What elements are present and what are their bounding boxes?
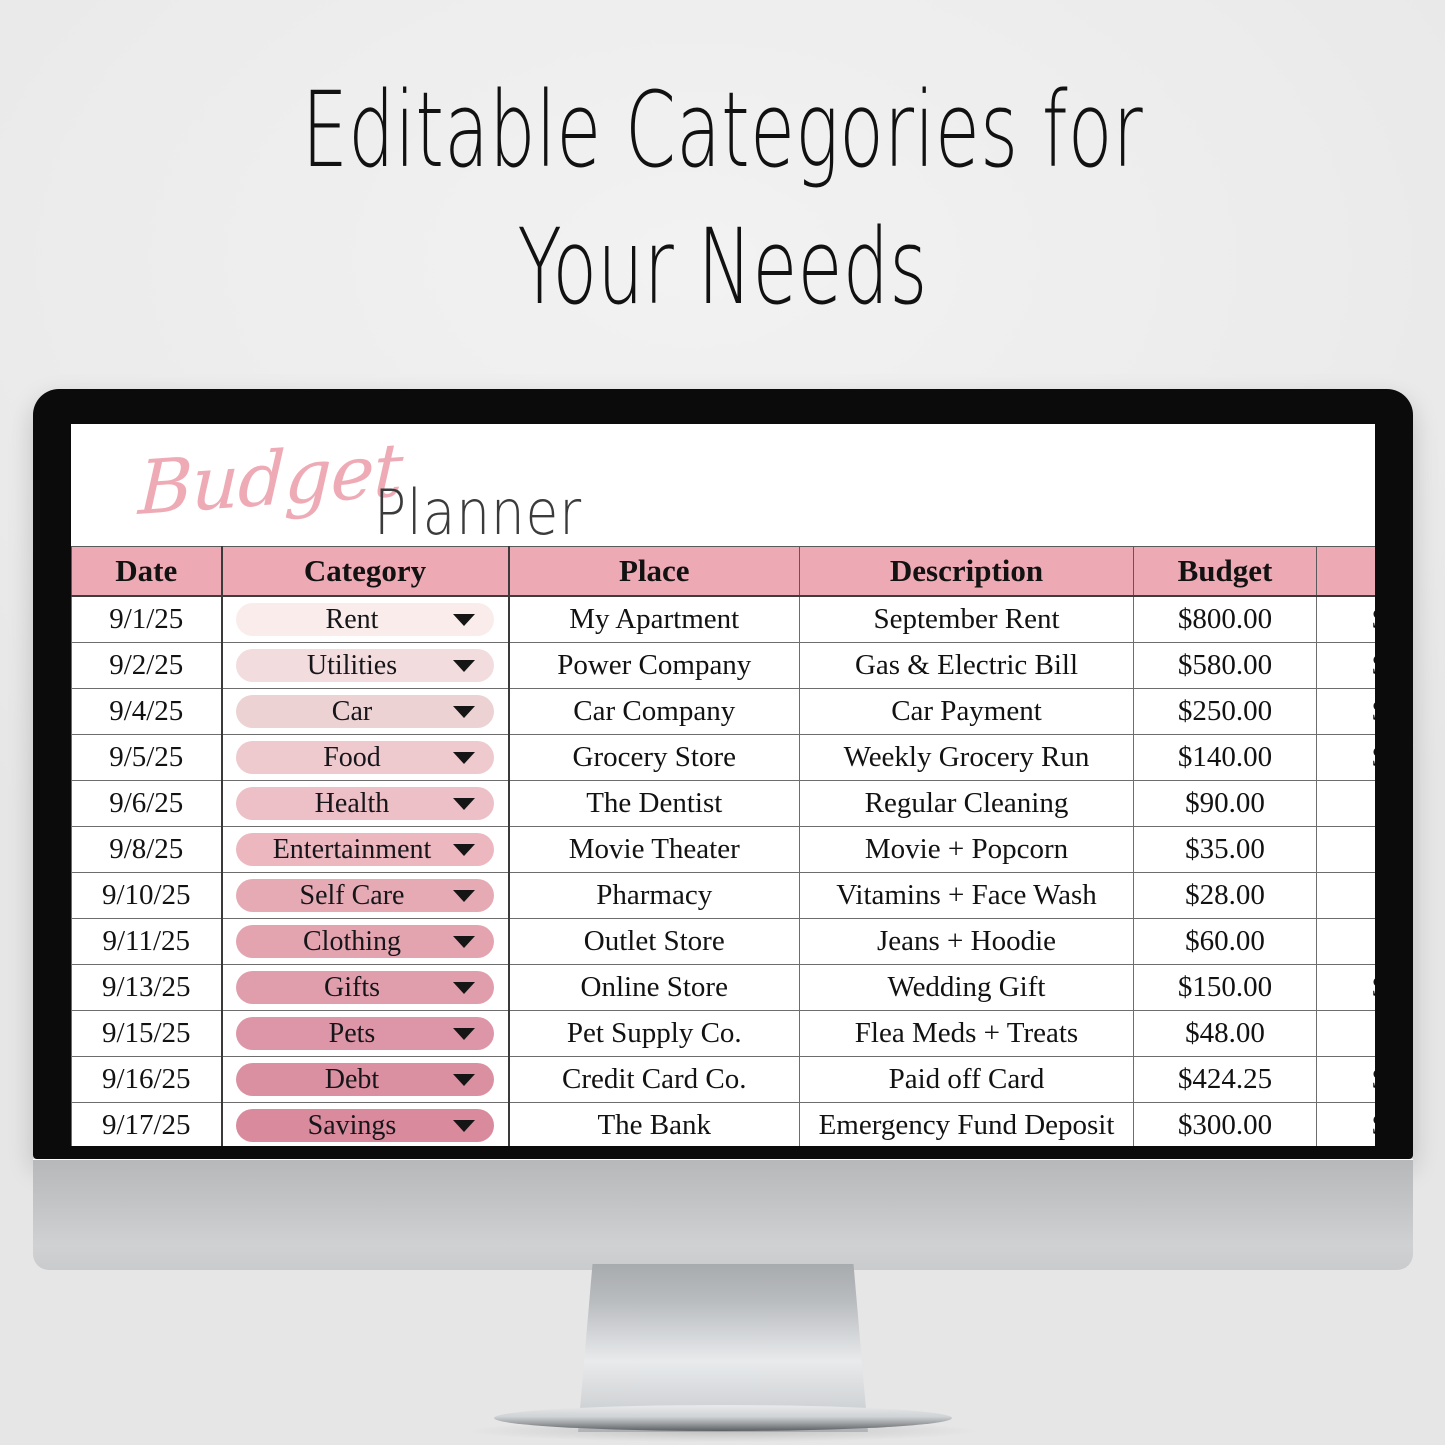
cell-date[interactable]: 9/2/25 xyxy=(72,643,222,689)
chevron-down-icon[interactable] xyxy=(453,1120,475,1132)
cell-date[interactable]: 9/17/25 xyxy=(72,1103,222,1147)
category-dropdown[interactable]: Food xyxy=(236,741,494,774)
cell-spent[interactable]: $8 xyxy=(1317,596,1376,643)
table-header-row: Date Category Place Description Budget S xyxy=(72,547,1376,597)
cell-place[interactable]: Pharmacy xyxy=(509,873,800,919)
table-row: 9/4/25CarCar CompanyCar Payment$250.00$2 xyxy=(72,689,1376,735)
cell-place[interactable]: Power Company xyxy=(509,643,800,689)
cell-category[interactable]: Gifts xyxy=(222,965,509,1011)
category-dropdown[interactable]: Health xyxy=(236,787,494,820)
chevron-down-icon[interactable] xyxy=(453,844,475,856)
table-row: 9/17/25SavingsThe BankEmergency Fund Dep… xyxy=(72,1103,1376,1147)
cell-place[interactable]: Car Company xyxy=(509,689,800,735)
table-row: 9/8/25EntertainmentMovie TheaterMovie + … xyxy=(72,827,1376,873)
cell-description[interactable]: Gas & Electric Bill xyxy=(800,643,1134,689)
column-header-category[interactable]: Category xyxy=(222,547,509,597)
cell-spent[interactable]: $ xyxy=(1317,919,1376,965)
cell-place[interactable]: The Dentist xyxy=(509,781,800,827)
chevron-down-icon[interactable] xyxy=(453,798,475,810)
cell-spent[interactable]: $ xyxy=(1317,827,1376,873)
category-dropdown[interactable]: Pets xyxy=(236,1017,494,1050)
table-row: 9/2/25UtilitiesPower CompanyGas & Electr… xyxy=(72,643,1376,689)
category-dropdown[interactable]: Entertainment xyxy=(236,833,494,866)
cell-date[interactable]: 9/6/25 xyxy=(72,781,222,827)
column-header-spent[interactable]: S xyxy=(1317,547,1376,597)
cell-spent[interactable]: $5 xyxy=(1317,643,1376,689)
cell-budget[interactable]: $28.00 xyxy=(1134,873,1317,919)
category-dropdown[interactable]: Utilities xyxy=(236,649,494,682)
cell-description[interactable]: Movie + Popcorn xyxy=(800,827,1134,873)
column-header-place[interactable]: Place xyxy=(509,547,800,597)
chevron-down-icon[interactable] xyxy=(453,1028,475,1040)
category-label: Car xyxy=(332,695,398,728)
cell-place[interactable]: The Bank xyxy=(509,1103,800,1147)
category-label: Gifts xyxy=(324,971,406,1004)
cell-spent[interactable]: $1 xyxy=(1317,735,1376,781)
cell-description[interactable]: Paid off Card xyxy=(800,1057,1134,1103)
chevron-down-icon[interactable] xyxy=(453,706,475,718)
logo-script-word: Budget xyxy=(137,427,404,532)
cell-category[interactable]: Utilities xyxy=(222,643,509,689)
category-dropdown[interactable]: Clothing xyxy=(236,925,494,958)
table-row: 9/15/25PetsPet Supply Co.Flea Meds + Tre… xyxy=(72,1011,1376,1057)
cell-description[interactable]: Car Payment xyxy=(800,689,1134,735)
cell-spent[interactable]: $4 xyxy=(1317,1057,1376,1103)
cell-date[interactable]: 9/8/25 xyxy=(72,827,222,873)
cell-budget[interactable]: $90.00 xyxy=(1134,781,1317,827)
cell-description[interactable]: Vitamins + Face Wash xyxy=(800,873,1134,919)
monitor-device: Budget Planner Date Category Place Descr… xyxy=(33,389,1413,1159)
cell-budget[interactable]: $35.00 xyxy=(1134,827,1317,873)
cell-spent[interactable]: $ xyxy=(1317,781,1376,827)
table-row: 9/5/25FoodGrocery StoreWeekly Grocery Ru… xyxy=(72,735,1376,781)
cell-category[interactable]: Food xyxy=(222,735,509,781)
cell-category[interactable]: Self Care xyxy=(222,873,509,919)
cell-description[interactable]: Regular Cleaning xyxy=(800,781,1134,827)
chevron-down-icon[interactable] xyxy=(453,982,475,994)
category-label: Rent xyxy=(326,603,405,636)
cell-description[interactable]: Emergency Fund Deposit xyxy=(800,1103,1134,1147)
column-header-date[interactable]: Date xyxy=(72,547,222,597)
cell-description[interactable]: Flea Meds + Treats xyxy=(800,1011,1134,1057)
product-mockup-scene: Editable Categories for Your Needs Budge… xyxy=(0,0,1445,1445)
category-dropdown[interactable]: Gifts xyxy=(236,971,494,1004)
cell-budget[interactable]: $250.00 xyxy=(1134,689,1317,735)
cell-description[interactable]: Weekly Grocery Run xyxy=(800,735,1134,781)
headline-text: Editable Categories for Your Needs xyxy=(217,62,1229,337)
chevron-down-icon[interactable] xyxy=(453,614,475,626)
category-label: Food xyxy=(323,741,407,774)
cell-category[interactable]: Rent xyxy=(222,596,509,643)
cell-category[interactable]: Pets xyxy=(222,1011,509,1057)
cell-spent[interactable]: $ xyxy=(1317,1011,1376,1057)
cell-budget[interactable]: $60.00 xyxy=(1134,919,1317,965)
cell-date[interactable]: 9/13/25 xyxy=(72,965,222,1011)
cell-spent[interactable]: $3 xyxy=(1317,1103,1376,1147)
category-label: Health xyxy=(315,787,416,820)
cell-budget[interactable]: $424.25 xyxy=(1134,1057,1317,1103)
cell-category[interactable]: Savings xyxy=(222,1103,509,1147)
cell-budget[interactable]: $140.00 xyxy=(1134,735,1317,781)
table-row: 9/10/25Self CarePharmacyVitamins + Face … xyxy=(72,873,1376,919)
cell-date[interactable]: 9/16/25 xyxy=(72,1057,222,1103)
category-dropdown[interactable]: Savings xyxy=(236,1109,494,1142)
cell-date[interactable]: 9/15/25 xyxy=(72,1011,222,1057)
cell-category[interactable]: Car xyxy=(222,689,509,735)
cell-place[interactable]: Online Store xyxy=(509,965,800,1011)
category-label: Clothing xyxy=(303,925,427,958)
cell-description[interactable]: Wedding Gift xyxy=(800,965,1134,1011)
category-label: Utilities xyxy=(307,649,423,682)
cell-place[interactable]: Grocery Store xyxy=(509,735,800,781)
cell-place[interactable]: Outlet Store xyxy=(509,919,800,965)
chevron-down-icon[interactable] xyxy=(453,890,475,902)
cell-budget[interactable]: $300.00 xyxy=(1134,1103,1317,1147)
chevron-down-icon[interactable] xyxy=(453,1074,475,1086)
cell-spent[interactable]: $1 xyxy=(1317,965,1376,1011)
category-dropdown[interactable]: Debt xyxy=(236,1063,494,1096)
cell-date[interactable]: 9/1/25 xyxy=(72,596,222,643)
chevron-down-icon[interactable] xyxy=(453,752,475,764)
table-row: 9/16/25DebtCredit Card Co.Paid off Card$… xyxy=(72,1057,1376,1103)
cell-place[interactable]: Pet Supply Co. xyxy=(509,1011,800,1057)
spreadsheet-logo: Budget Planner xyxy=(71,424,1375,546)
cell-place[interactable]: Movie Theater xyxy=(509,827,800,873)
logo-plain-word: Planner xyxy=(374,476,582,549)
category-label: Self Care xyxy=(300,879,431,912)
cell-date[interactable]: 9/10/25 xyxy=(72,873,222,919)
cell-budget[interactable]: $150.00 xyxy=(1134,965,1317,1011)
category-label: Entertainment xyxy=(273,833,458,866)
chevron-down-icon[interactable] xyxy=(453,660,475,672)
table-row: 9/6/25HealthThe DentistRegular Cleaning$… xyxy=(72,781,1376,827)
cell-date[interactable]: 9/11/25 xyxy=(72,919,222,965)
monitor-foot xyxy=(494,1405,952,1431)
cell-description[interactable]: September Rent xyxy=(800,596,1134,643)
cell-spent[interactable]: $ xyxy=(1317,873,1376,919)
cell-description[interactable]: Jeans + Hoodie xyxy=(800,919,1134,965)
category-label: Pets xyxy=(329,1017,402,1050)
category-label: Debt xyxy=(325,1063,405,1096)
monitor-screen: Budget Planner Date Category Place Descr… xyxy=(71,424,1375,1146)
table-row: 9/13/25GiftsOnline StoreWedding Gift$150… xyxy=(72,965,1376,1011)
cell-category[interactable]: Health xyxy=(222,781,509,827)
column-header-description[interactable]: Description xyxy=(800,547,1134,597)
cell-place[interactable]: My Apartment xyxy=(509,596,800,643)
category-dropdown[interactable]: Self Care xyxy=(236,879,494,912)
cell-date[interactable]: 9/4/25 xyxy=(72,689,222,735)
cell-category[interactable]: Debt xyxy=(222,1057,509,1103)
column-header-budget[interactable]: Budget xyxy=(1134,547,1317,597)
chevron-down-icon[interactable] xyxy=(453,936,475,948)
table-row: 9/11/25ClothingOutlet StoreJeans + Hoodi… xyxy=(72,919,1376,965)
cell-budget[interactable]: $580.00 xyxy=(1134,643,1317,689)
category-dropdown[interactable]: Car xyxy=(236,695,494,728)
cell-date[interactable]: 9/5/25 xyxy=(72,735,222,781)
table-row: 9/1/25RentMy ApartmentSeptember Rent$800… xyxy=(72,596,1376,643)
cell-category[interactable]: Entertainment xyxy=(222,827,509,873)
category-dropdown[interactable]: Rent xyxy=(236,603,494,636)
cell-spent[interactable]: $2 xyxy=(1317,689,1376,735)
cell-place[interactable]: Credit Card Co. xyxy=(509,1057,800,1103)
monitor-chin xyxy=(33,1159,1413,1270)
category-label: Savings xyxy=(308,1109,423,1142)
table-body: 9/1/25RentMy ApartmentSeptember Rent$800… xyxy=(72,596,1376,1146)
cell-budget[interactable]: $800.00 xyxy=(1134,596,1317,643)
cell-category[interactable]: Clothing xyxy=(222,919,509,965)
budget-table: Date Category Place Description Budget S… xyxy=(71,546,1375,1146)
cell-budget[interactable]: $48.00 xyxy=(1134,1011,1317,1057)
